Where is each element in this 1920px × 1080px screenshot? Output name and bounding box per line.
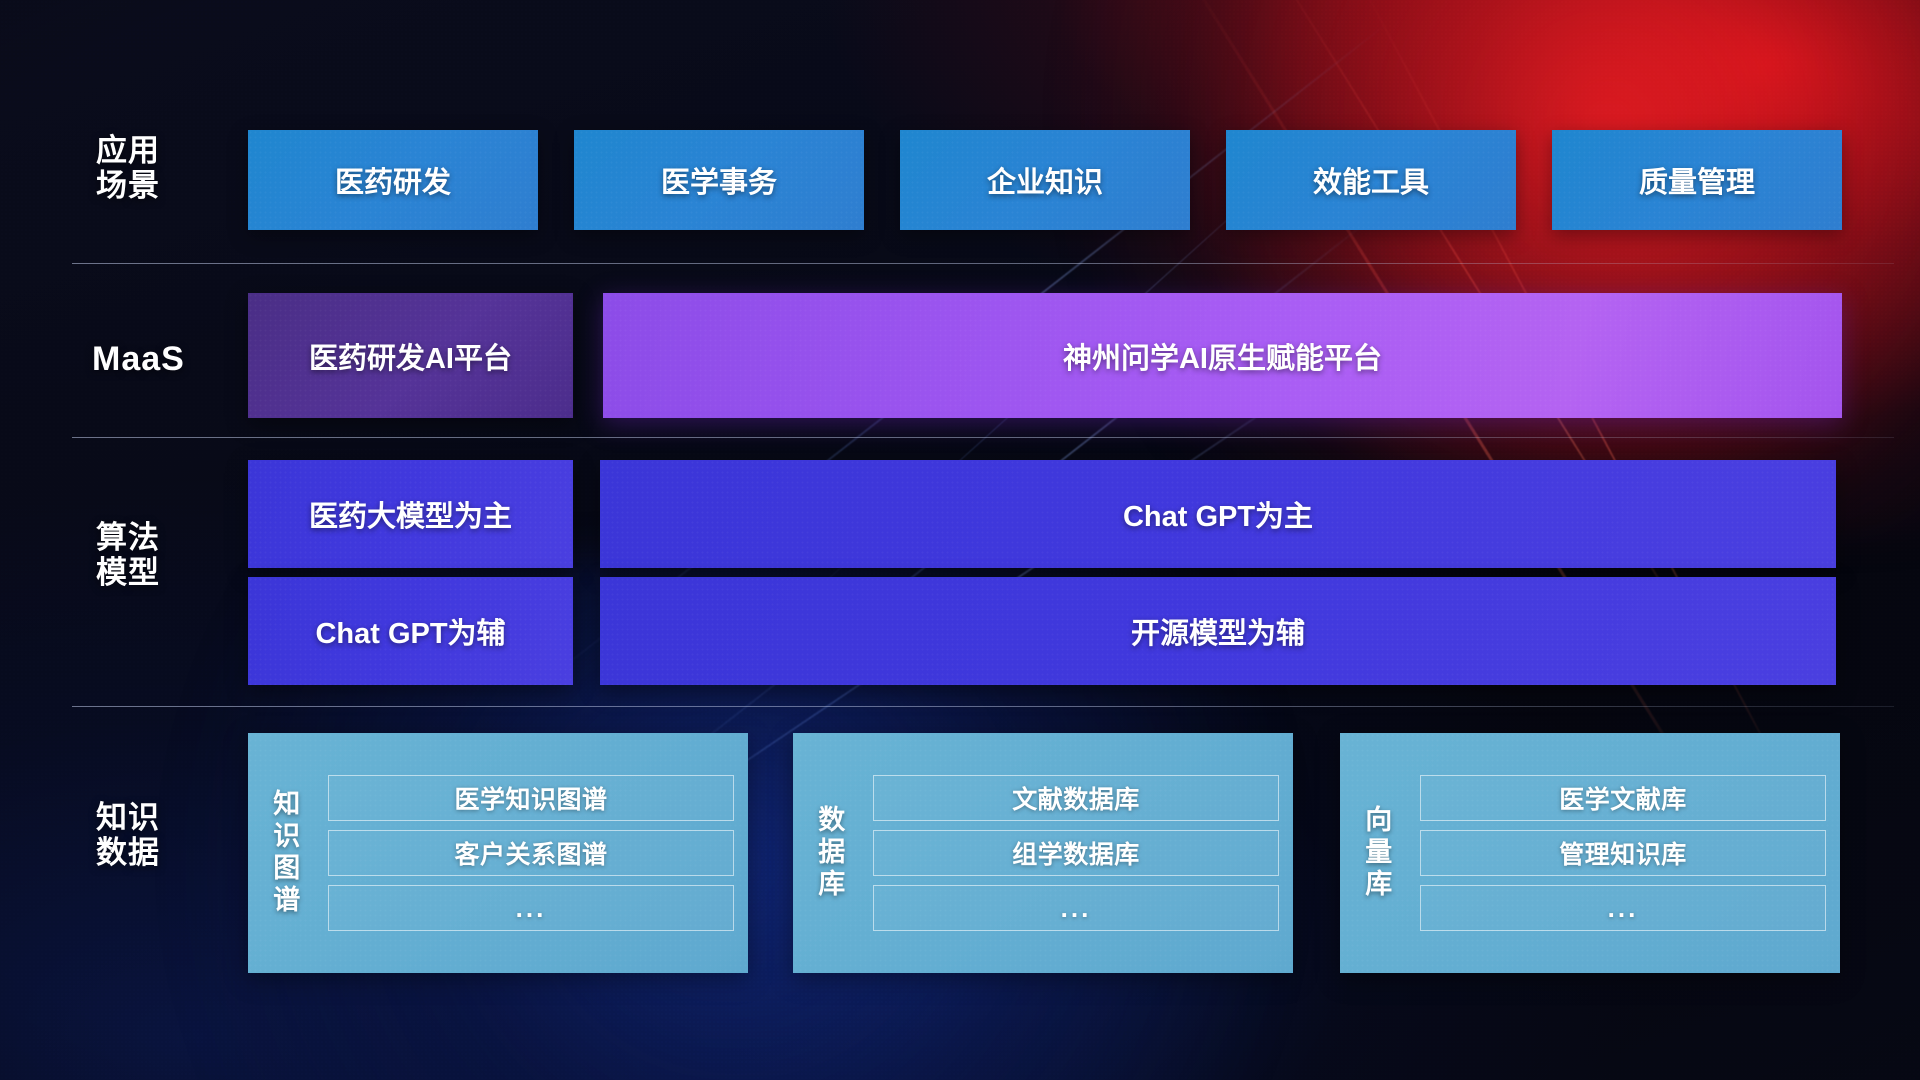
algo-box-label: Chat GPT为主 (1123, 493, 1313, 535)
row-label-line-1: MaaS (92, 340, 242, 379)
knowledge-item[interactable]: 医学文献库 (1420, 775, 1826, 821)
knowledge-item-label: ... (1061, 893, 1092, 924)
knowledge-panel-title: 向 量 库 (1350, 805, 1408, 901)
knowledge-panel-title-char: 谱 (258, 885, 316, 917)
knowledge-panel-title-char: 库 (1350, 869, 1408, 901)
app-box-label: 企业知识 (987, 159, 1103, 201)
row-label-knowledge-data: 知识 数据 (96, 800, 216, 871)
algo-box-opensource-model-secondary[interactable]: 开源模型为辅 (600, 577, 1836, 685)
row-label-line-2: 模型 (96, 555, 216, 590)
app-box-efficiency-tools[interactable]: 效能工具 (1226, 130, 1516, 230)
algo-box-label: 医药大模型为主 (309, 493, 512, 535)
app-box-quality-management[interactable]: 质量管理 (1552, 130, 1842, 230)
knowledge-item-more[interactable]: ... (328, 885, 734, 931)
maas-box-shenzhou-wenxue-platform[interactable]: 神州问学AI原生赋能平台 (603, 293, 1842, 418)
knowledge-panel-title-char: 量 (1350, 837, 1408, 869)
knowledge-item-label: 客户关系图谱 (454, 835, 607, 871)
knowledge-panel-title-char: 据 (803, 837, 861, 869)
knowledge-item-label: ... (1608, 893, 1639, 924)
knowledge-panel-title-char: 图 (258, 853, 316, 885)
knowledge-panel-database[interactable]: 数 据 库 文献数据库 组学数据库 ... (793, 733, 1293, 973)
algo-box-chatgpt-secondary[interactable]: Chat GPT为辅 (248, 577, 573, 685)
row-label-line-2: 数据 (96, 835, 216, 870)
knowledge-panel-title-char: 数 (803, 805, 861, 837)
maas-box-label: 医药研发AI平台 (309, 335, 512, 377)
knowledge-item[interactable]: 文献数据库 (873, 775, 1279, 821)
knowledge-panel-knowledge-graph[interactable]: 知 识 图 谱 医学知识图谱 客户关系图谱 ... (248, 733, 748, 973)
knowledge-item-label: 组学数据库 (1012, 835, 1140, 871)
knowledge-item-list: 文献数据库 组学数据库 ... (873, 775, 1279, 931)
algo-box-chatgpt-primary[interactable]: Chat GPT为主 (600, 460, 1836, 568)
app-box-enterprise-knowledge[interactable]: 企业知识 (900, 130, 1190, 230)
divider-after-maas-row (72, 437, 1894, 438)
knowledge-item[interactable]: 医学知识图谱 (328, 775, 734, 821)
knowledge-item-label: 医学文献库 (1559, 780, 1687, 816)
knowledge-item-label: ... (516, 893, 547, 924)
row-label-line-1: 算法 (96, 520, 216, 555)
algo-box-label: Chat GPT为辅 (315, 610, 505, 652)
app-box-medical-affairs[interactable]: 医学事务 (574, 130, 864, 230)
algo-box-label: 开源模型为辅 (1131, 610, 1305, 652)
divider-after-algorithm-row (72, 706, 1894, 707)
architecture-diagram: 应用 场景 医药研发 医学事务 企业知识 效能工具 质量管理 MaaS 医药研发… (0, 0, 1920, 1080)
row-label-algorithm-model: 算法 模型 (96, 520, 216, 591)
knowledge-item[interactable]: 管理知识库 (1420, 830, 1826, 876)
app-box-medicine-rnd[interactable]: 医药研发 (248, 130, 538, 230)
knowledge-panel-title-char: 识 (258, 821, 316, 853)
knowledge-panel-title-char: 知 (258, 789, 316, 821)
algo-box-medicine-large-model-primary[interactable]: 医药大模型为主 (248, 460, 573, 568)
app-box-label: 效能工具 (1313, 159, 1429, 201)
knowledge-item-more[interactable]: ... (873, 885, 1279, 931)
knowledge-item-more[interactable]: ... (1420, 885, 1826, 931)
app-box-label: 医学事务 (661, 159, 777, 201)
row-label-line-2: 场景 (96, 168, 216, 203)
knowledge-item-list: 医学文献库 管理知识库 ... (1420, 775, 1826, 931)
knowledge-item[interactable]: 客户关系图谱 (328, 830, 734, 876)
row-label-line-1: 应用 (96, 133, 216, 168)
row-label-maas: MaaS (92, 340, 242, 379)
knowledge-item-label: 管理知识库 (1559, 835, 1687, 871)
divider-after-application-row (72, 263, 1894, 264)
row-label-line-1: 知识 (96, 800, 216, 835)
app-box-label: 质量管理 (1639, 159, 1755, 201)
knowledge-panel-title: 知 识 图 谱 (258, 789, 316, 916)
knowledge-panel-title: 数 据 库 (803, 805, 861, 901)
knowledge-panel-title-char: 库 (803, 869, 861, 901)
knowledge-item-label: 文献数据库 (1012, 780, 1140, 816)
knowledge-item-list: 医学知识图谱 客户关系图谱 ... (328, 775, 734, 931)
knowledge-panel-title-char: 向 (1350, 805, 1408, 837)
maas-box-label: 神州问学AI原生赋能平台 (1063, 335, 1382, 377)
maas-box-medicine-ai-platform[interactable]: 医药研发AI平台 (248, 293, 573, 418)
knowledge-item-label: 医学知识图谱 (454, 780, 607, 816)
app-box-label: 医药研发 (335, 159, 451, 201)
row-label-application-scenario: 应用 场景 (96, 133, 216, 204)
knowledge-item[interactable]: 组学数据库 (873, 830, 1279, 876)
knowledge-panel-vector-store[interactable]: 向 量 库 医学文献库 管理知识库 ... (1340, 733, 1840, 973)
